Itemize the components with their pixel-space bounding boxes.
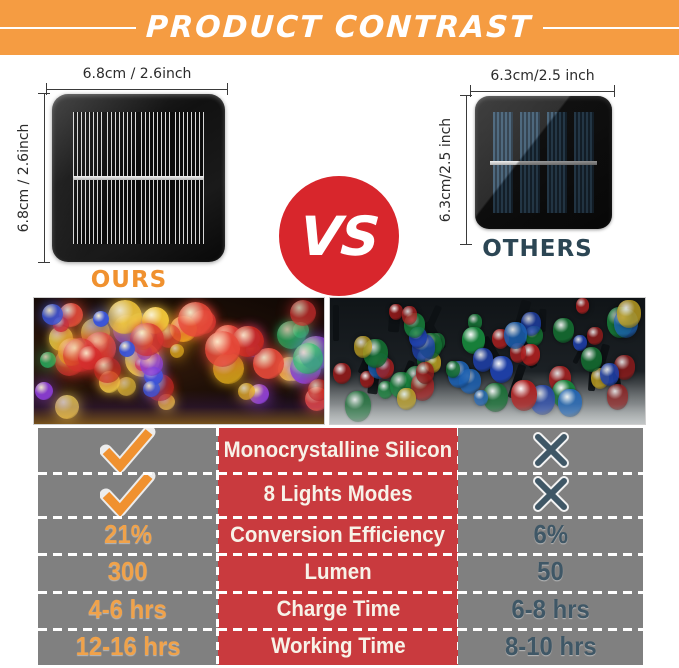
led-bulb [581,347,602,372]
others-value-cell: 6-8 hrs [458,591,643,628]
others-value: 8-10 hrs [505,631,597,662]
header-banner: PRODUCT CONTRAST [0,0,679,55]
ours-height-dimension: 6.8cm / 2.6inch [38,93,50,263]
dim-cap-right [227,83,228,95]
ours-value-cell: 12-16 hrs [38,628,218,665]
photo-haze-overlay [330,384,645,424]
dim-bar [471,91,614,92]
dim-bar [466,96,467,244]
panel-gloss-overlay [52,94,225,262]
led-bulb [402,306,417,324]
feature-name-cell: Charge Time [218,591,458,628]
ours-solar-panel [52,94,225,262]
dim-bar [44,94,45,262]
feature-name-cell: Working Time [218,628,458,665]
check-icon [100,428,156,472]
banner-line-left [0,27,136,29]
ours-value: 4-6 hrs [89,594,167,625]
ours-label: OURS [14,267,244,293]
led-bulb [587,327,603,345]
ours-value-cell [38,472,218,516]
page-title: PRODUCT CONTRAST [135,10,543,45]
product-photos [33,297,646,425]
led-bulb [178,302,213,337]
others-width-label: 6.3cm/2.5 inch [485,68,599,84]
feature-label: Working Time [271,633,406,659]
led-bulb [576,298,589,313]
vs-badge: VS [279,176,399,296]
led-bulb [290,300,317,327]
table-row: 21%Conversion Efficiency6% [38,516,643,553]
feature-label: Conversion Efficiency [231,522,446,548]
ours-value: 21% [104,519,152,550]
check-icon [100,472,156,516]
dim-cap-bottom [38,262,50,263]
ours-panel-group: 6.8cm / 2.6inch 6.8cm / 2.6inch OURS [14,65,244,290]
panel-comparison-section: 6.8cm / 2.6inch 6.8cm / 2.6inch OURS VS [0,55,679,293]
others-value: 50 [537,556,564,587]
ours-value-cell [38,428,218,472]
feature-name-cell: Monocrystalline Silicon [218,428,458,472]
led-bulb [617,300,640,328]
dim-bar [47,89,227,90]
table-row: 12-16 hrsWorking Time8-10 hrs [38,628,643,665]
table-row: 4-6 hrsCharge Time6-8 hrs [38,591,643,628]
others-value-cell: 8-10 hrs [458,628,643,665]
led-bulb [333,363,351,384]
led-bulb [205,331,240,366]
table-row: Monocrystalline Silicon [38,428,643,472]
ours-value-cell: 21% [38,516,218,553]
led-bulb [93,311,109,327]
others-value-cell: 50 [458,553,643,590]
ours-height-label: 6.8cm / 2.6inch [16,120,32,237]
led-bulb [293,343,324,374]
banner-line-right [543,27,679,29]
led-bulb [553,318,574,343]
others-product-photo [329,297,646,425]
others-value-cell [458,428,643,472]
ours-value-cell: 4-6 hrs [38,591,218,628]
ours-value: 12-16 hrs [75,631,180,662]
led-bulb [446,361,460,378]
cross-icon [531,474,571,514]
others-height-label: 6.3cm/2.5 inch [438,114,454,226]
others-panel-group: 6.3cm/2.5 inch 6.3cm/2.5 inch OTHERS [430,73,645,288]
ours-value-cell: 300 [38,553,218,590]
others-height-dimension: 6.3cm/2.5 inch [460,95,472,245]
led-bulb [389,304,403,321]
others-value-cell: 6% [458,516,643,553]
feature-label: Monocrystalline Silicon [224,437,453,463]
others-label: OTHERS [430,236,645,262]
feature-label: 8 Lights Modes [264,481,413,507]
led-bulb [170,344,184,358]
others-value-cell [458,472,643,516]
led-bulb [490,356,513,383]
panel-gloss-overlay [475,96,612,229]
feature-label: Charge Time [276,596,400,622]
dim-cap-right [614,85,615,97]
led-bulb [600,363,619,386]
ours-width-label: 6.8cm / 2.6inch [78,66,197,82]
ours-product-photo [33,297,325,425]
others-solar-panel [475,96,612,229]
feature-name-cell: Conversion Efficiency [218,516,458,553]
comparison-table: Monocrystalline Silicon 8 Lights Modes 2… [38,428,643,665]
vs-label: VS [297,205,380,268]
others-value: 6-8 hrs [511,594,589,625]
table-row: 300Lumen50 [38,553,643,590]
feature-name-cell: 8 Lights Modes [218,472,458,516]
ours-value: 300 [108,556,148,587]
led-bulb [130,323,164,357]
led-bulb [40,352,56,368]
others-value: 6% [533,519,568,550]
cross-icon [531,430,571,470]
feature-name-cell: Lumen [218,553,458,590]
led-bulb [94,357,121,384]
table-row: 8 Lights Modes [38,472,643,516]
photo-glow-overlay [34,390,324,424]
feature-label: Lumen [304,559,371,585]
led-wire [333,305,339,341]
